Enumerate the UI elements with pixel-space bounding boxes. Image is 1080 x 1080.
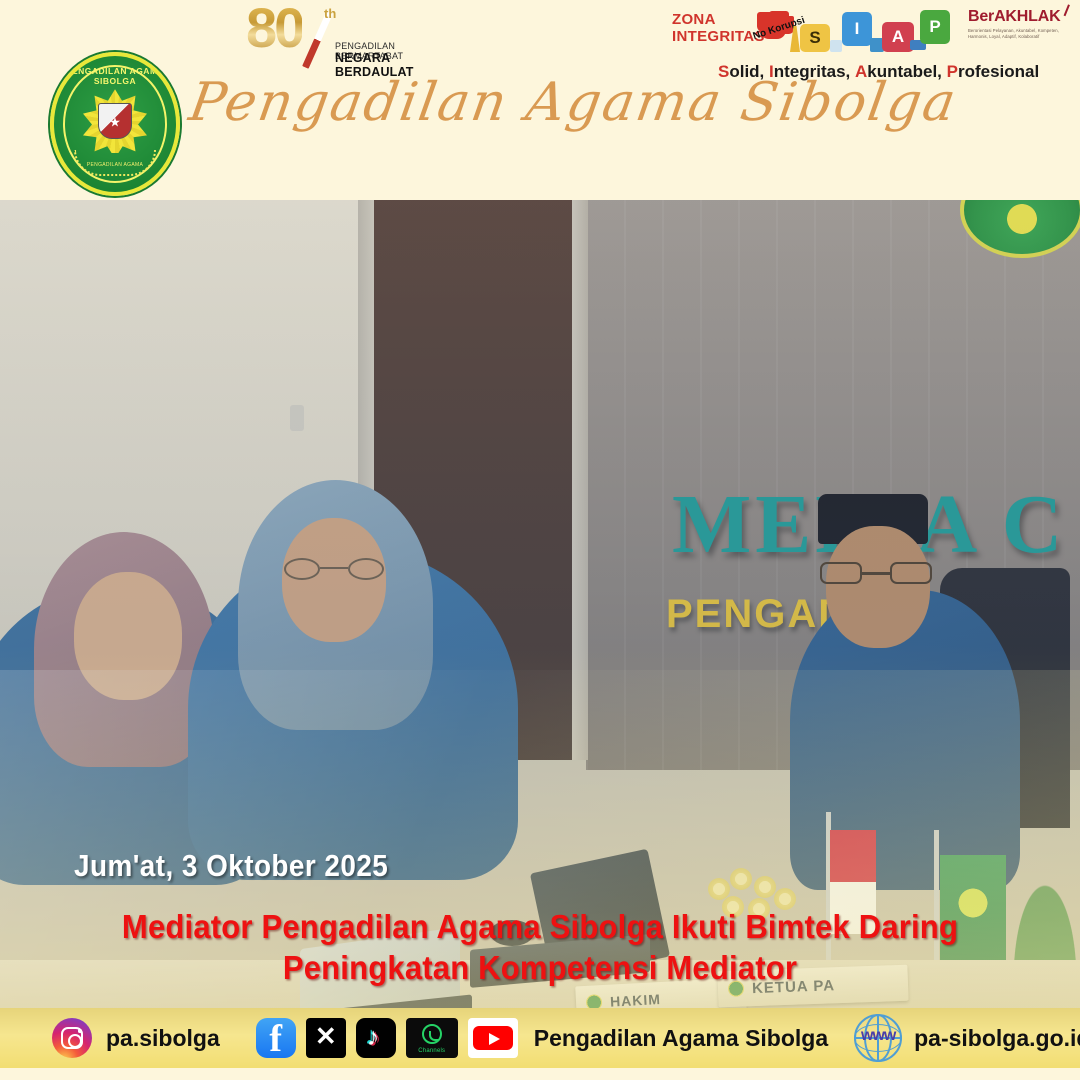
website-url: pa-sibolga.go.id <box>914 1025 1080 1052</box>
berakhlak-hook-icon <box>1058 2 1071 16</box>
instagram-handle: pa.sibolga <box>106 1025 220 1052</box>
photo-person-3-face <box>826 526 930 648</box>
tiktok-icon[interactable]: ♪♪♪ <box>356 1018 396 1058</box>
tagline-kuntabel: kuntabel, <box>867 62 946 81</box>
event-photo: MEDIA C PENGADILAN AGA <box>0 200 1080 1010</box>
anniversary-number: 80 <box>246 0 302 56</box>
whatsapp-channels-icon[interactable]: Channels <box>406 1018 458 1058</box>
tagline-p: P <box>947 62 958 81</box>
photo-door-frame-right <box>572 200 588 760</box>
website-globe-icon[interactable]: www <box>854 1014 902 1062</box>
anniversary-superscript: th <box>324 6 336 21</box>
photo-door-knob <box>290 405 304 431</box>
facebook-icon[interactable]: f <box>256 1018 296 1058</box>
www-label: www <box>854 1027 902 1045</box>
caption-headline-line1: Mediator Pengadilan Agama Sibolga Ikuti … <box>32 906 1047 947</box>
siap-letter-s: S <box>800 24 830 52</box>
caption-date: Jum'at, 3 Oktober 2025 <box>74 848 388 884</box>
siap-tagline: Solid, Integritas, Akuntabel, Profesiona… <box>718 62 1039 82</box>
berakhlak-title: BerAKHLAK <box>968 8 1060 25</box>
berakhlak-logo: BerAKHLAK Berorientasi Pelayanan, Akunta… <box>968 8 1076 40</box>
footer-bottom-strip <box>0 1068 1080 1080</box>
zona-line1: ZONA <box>672 11 716 28</box>
nameplate-hakim-label: HAKIM <box>610 991 662 1010</box>
header-bar: PENGADILAN AGAMA SIBOLGA PENGADILAN AGAM… <box>0 0 1080 200</box>
whatsapp-channels-label: Channels <box>406 1048 458 1054</box>
seal-shield-icon <box>98 103 132 139</box>
photo-person-2-face <box>282 518 386 642</box>
tagline-a: A <box>855 62 867 81</box>
siap-letter-i: I <box>842 12 872 46</box>
instagram-icon[interactable] <box>52 1018 92 1058</box>
poster-root: PENGADILAN AGAMA SIBOLGA PENGADILAN AGAM… <box>0 0 1080 1080</box>
x-twitter-icon[interactable]: ✕ <box>306 1018 346 1058</box>
berakhlak-subtitle: Berorientasi Pelayanan, Akuntabel, Kompe… <box>968 28 1076 40</box>
court-seal-logo: PENGADILAN AGAMA SIBOLGA PENGADILAN AGAM… <box>50 52 180 196</box>
siap-box-1-icon <box>830 40 842 52</box>
social-account-name: Pengadilan Agama Sibolga <box>534 1025 828 1052</box>
photo-person-3-glasses-icon <box>820 562 932 584</box>
anniversary-80-logo: 80 th PENGADILAN BERMARTABAT NEGARA BERD… <box>240 4 440 70</box>
seal-banner-text: PENGADILAN AGAMA <box>87 162 143 168</box>
photo-person-2-glasses-icon <box>284 558 384 580</box>
siap-letter-p: P <box>920 10 950 44</box>
youtube-icon[interactable] <box>468 1018 518 1058</box>
photo-person-1-face <box>74 572 182 700</box>
zona-integritas-label: ZONA INTEGRITAS <box>672 11 765 45</box>
caption-headline-line2: Peningkatan Kompetensi Mediator <box>32 947 1047 988</box>
seal-ring-text: PENGADILAN AGAMA SIBOLGA <box>54 66 176 86</box>
tagline-s: S <box>718 62 729 81</box>
tagline-ntegritas: ntegritas, <box>774 62 855 81</box>
siap-logo: S I A P <box>790 10 955 52</box>
tagline-rofesional: rofesional <box>958 62 1039 81</box>
caption-headline: Mediator Pengadilan Agama Sibolga Ikuti … <box>0 906 1080 988</box>
tagline-olid: olid, <box>729 62 769 81</box>
siap-cone-icon <box>790 26 800 52</box>
footer-bar: pa.sibolga f ✕ ♪♪♪ Channels Pengadilan A… <box>0 1008 1080 1068</box>
